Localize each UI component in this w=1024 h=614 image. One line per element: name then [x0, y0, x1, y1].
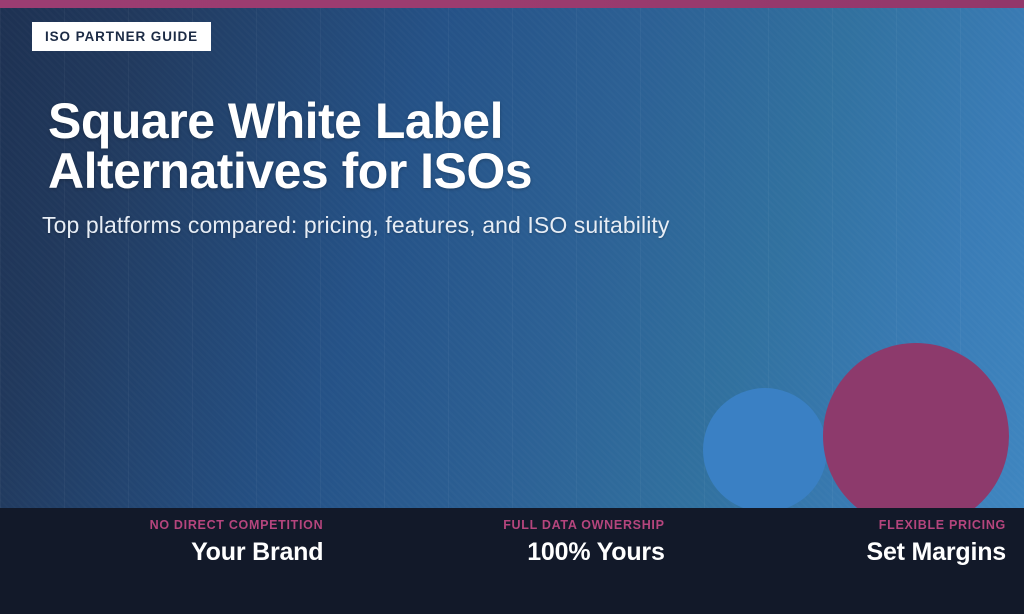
stat-label: FLEXIBLE PRICING	[879, 518, 1006, 532]
stat-block-no-direct-competition: NO DIRECT COMPETITION Your Brand	[0, 508, 341, 574]
stats-bar: NO DIRECT COMPETITION Your Brand FULL DA…	[0, 508, 1024, 614]
stats-row: NO DIRECT COMPETITION Your Brand FULL DA…	[0, 508, 1024, 574]
stat-label: FULL DATA OWNERSHIP	[503, 518, 664, 532]
top-accent-bar	[0, 0, 1024, 8]
slide-subtitle: Top platforms compared: pricing, feature…	[42, 212, 670, 239]
stat-block-full-data-ownership: FULL DATA OWNERSHIP 100% Yours	[341, 508, 682, 574]
stat-value: Set Margins	[866, 538, 1006, 567]
stat-value: 100% Yours	[527, 538, 664, 567]
decorative-circle-plum	[823, 343, 1009, 529]
stat-value: Your Brand	[191, 538, 323, 567]
slide-title: Square White Label Alternatives for ISOs	[48, 96, 532, 196]
presentation-slide: ISO PARTNER GUIDE Square White Label Alt…	[0, 0, 1024, 614]
stat-label: NO DIRECT COMPETITION	[150, 518, 324, 532]
decorative-circle-blue	[703, 388, 827, 512]
stat-block-flexible-pricing: FLEXIBLE PRICING Set Margins	[683, 508, 1024, 574]
eyebrow-badge: ISO PARTNER GUIDE	[32, 22, 211, 51]
